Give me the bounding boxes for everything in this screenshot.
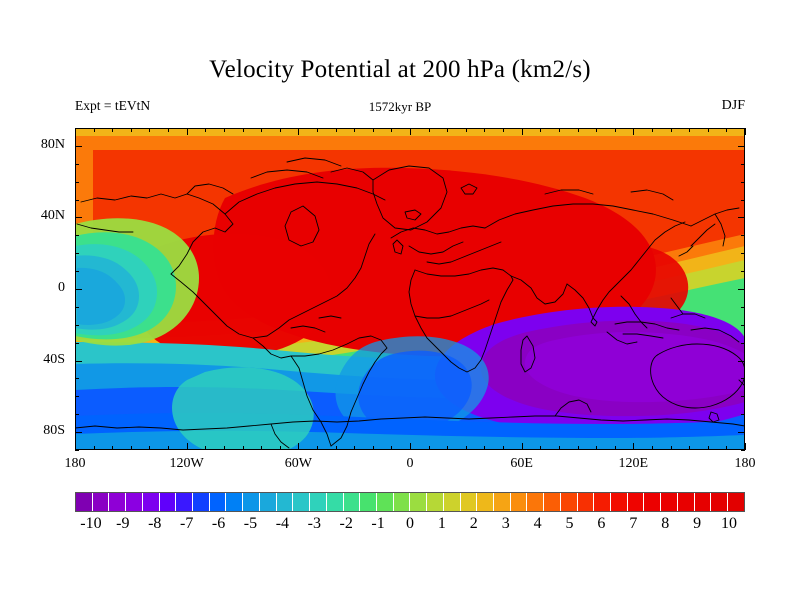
colorbar-cell[interactable] <box>260 493 277 511</box>
x-tick <box>671 446 672 450</box>
y-tick <box>75 450 79 451</box>
x-tick <box>726 446 727 450</box>
colorbar-cell[interactable] <box>277 493 294 511</box>
colorbar-tick-label: -5 <box>244 515 257 533</box>
page-title: Velocity Potential at 200 hPa (km2/s) <box>0 56 800 84</box>
x-tick-top <box>224 128 225 132</box>
y-tick <box>75 414 79 415</box>
y-tick <box>75 182 79 183</box>
colorbar-cell[interactable] <box>561 493 578 511</box>
y-tick-right <box>738 146 745 147</box>
colorbar-tick-label: 6 <box>597 515 605 533</box>
y-tick-right <box>741 450 745 451</box>
colorbar-cell[interactable] <box>511 493 528 511</box>
x-tick-top <box>94 128 95 132</box>
x-tick <box>633 443 634 450</box>
y-tick-right <box>741 307 745 308</box>
colorbar-cell[interactable] <box>160 493 177 511</box>
contour-map-svg <box>75 128 745 450</box>
y-tick-right <box>741 253 745 254</box>
colorbar-tick-label: -10 <box>80 515 101 533</box>
subtitle-time-label: 1572kyr BP <box>0 99 800 115</box>
y-tick-right <box>738 217 745 218</box>
colorbar-cell[interactable] <box>377 493 394 511</box>
x-tick-top <box>391 128 392 132</box>
x-tick-top <box>373 128 374 132</box>
x-tick <box>112 446 113 450</box>
y-tick <box>75 307 79 308</box>
colorbar[interactable] <box>75 492 745 512</box>
colorbar-cell[interactable] <box>695 493 712 511</box>
x-tick-top <box>298 128 299 135</box>
velocity-potential-figure: Velocity Potential at 200 hPa (km2/s) Ex… <box>0 0 800 600</box>
colorbar-tick-label: 8 <box>661 515 669 533</box>
colorbar-cell[interactable] <box>109 493 126 511</box>
x-tick <box>466 446 467 450</box>
y-tick-right <box>741 200 745 201</box>
y-axis-label: 80S <box>0 423 65 439</box>
x-tick-top <box>745 128 746 135</box>
x-tick <box>596 446 597 450</box>
x-tick-top <box>689 128 690 132</box>
x-tick <box>75 443 76 450</box>
colorbar-cell[interactable] <box>628 493 645 511</box>
x-axis-label: 120W <box>170 456 204 472</box>
colorbar-cell[interactable] <box>226 493 243 511</box>
x-tick <box>559 446 560 450</box>
x-tick <box>522 443 523 450</box>
x-tick <box>187 443 188 450</box>
y-tick <box>75 200 79 201</box>
colorbar-tick-label: 3 <box>502 515 510 533</box>
colorbar-cell[interactable] <box>176 493 193 511</box>
x-tick-top <box>708 128 709 132</box>
x-tick-top <box>261 128 262 132</box>
colorbar-tick-label: 10 <box>721 515 737 533</box>
y-tick-right <box>738 289 745 290</box>
colorbar-cell[interactable] <box>293 493 310 511</box>
y-tick-right <box>741 182 745 183</box>
colorbar-cell[interactable] <box>93 493 110 511</box>
x-tick-top <box>615 128 616 132</box>
colorbar-tick-label: -6 <box>212 515 225 533</box>
x-axis-label: 180 <box>65 456 86 472</box>
colorbar-cell[interactable] <box>427 493 444 511</box>
colorbar-cell[interactable] <box>594 493 611 511</box>
colorbar-cell[interactable] <box>578 493 595 511</box>
colorbar-cell[interactable] <box>494 493 511 511</box>
y-tick-right <box>741 128 745 129</box>
x-tick-top <box>522 128 523 135</box>
x-axis-label: 180 <box>735 456 756 472</box>
y-tick <box>75 361 82 362</box>
x-tick-top <box>187 128 188 135</box>
y-tick <box>75 396 79 397</box>
colorbar-tick-label: 5 <box>566 515 574 533</box>
x-tick <box>261 446 262 450</box>
colorbar-tick-label: 1 <box>438 515 446 533</box>
x-axis-label: 60W <box>285 456 312 472</box>
colorbar-cell[interactable] <box>711 493 728 511</box>
y-tick <box>75 128 79 129</box>
x-tick-top <box>149 128 150 132</box>
y-tick <box>75 164 79 165</box>
y-tick-right <box>741 414 745 415</box>
x-tick <box>540 446 541 450</box>
x-tick <box>243 446 244 450</box>
x-tick-top <box>559 128 560 132</box>
y-tick-right <box>738 432 745 433</box>
y-tick-right <box>741 378 745 379</box>
colorbar-cell[interactable] <box>143 493 160 511</box>
map-plot-area <box>75 128 745 450</box>
colorbar-tick-label: -9 <box>116 515 129 533</box>
x-tick-top <box>205 128 206 132</box>
colorbar-cell[interactable] <box>661 493 678 511</box>
colorbar-cell[interactable] <box>243 493 260 511</box>
x-tick-top <box>596 128 597 132</box>
x-tick-top <box>726 128 727 132</box>
y-axis-label: 40N <box>0 208 65 224</box>
colorbar-tick-label: -1 <box>371 515 384 533</box>
x-tick <box>615 446 616 450</box>
x-tick <box>745 443 746 450</box>
colorbar-tick-label: 9 <box>693 515 701 533</box>
y-tick-right <box>741 396 745 397</box>
x-tick-top <box>243 128 244 132</box>
colorbar-cell[interactable] <box>461 493 478 511</box>
colorbar-cell[interactable] <box>193 493 210 511</box>
x-tick-top <box>75 128 76 135</box>
x-tick <box>149 446 150 450</box>
y-tick <box>75 432 82 433</box>
x-tick-top <box>484 128 485 132</box>
x-tick <box>429 446 430 450</box>
x-tick-top <box>336 128 337 132</box>
y-axis-label: 40S <box>0 352 65 368</box>
y-tick <box>75 378 79 379</box>
colorbar-tick-label: -8 <box>148 515 161 533</box>
colorbar-cell[interactable] <box>394 493 411 511</box>
x-tick <box>447 446 448 450</box>
colorbar-cell[interactable] <box>544 493 561 511</box>
x-tick-top <box>671 128 672 132</box>
colorbar-cell[interactable] <box>310 493 327 511</box>
y-tick-right <box>741 164 745 165</box>
x-tick <box>484 446 485 450</box>
x-axis-label: 120E <box>619 456 649 472</box>
filled-contour-bands <box>75 128 745 450</box>
x-tick-top <box>410 128 411 135</box>
y-tick <box>75 146 82 147</box>
colorbar-cell[interactable] <box>644 493 661 511</box>
x-tick-top <box>354 128 355 132</box>
colorbar-tick-label: 4 <box>534 515 542 533</box>
colorbar-cell[interactable] <box>728 493 744 511</box>
x-tick <box>317 446 318 450</box>
colorbar-cell[interactable] <box>76 493 93 511</box>
y-tick-right <box>741 343 745 344</box>
x-tick <box>652 446 653 450</box>
x-tick <box>224 446 225 450</box>
colorbar-cell[interactable] <box>126 493 143 511</box>
x-axis-label: 60E <box>510 456 533 472</box>
colorbar-cell[interactable] <box>327 493 344 511</box>
y-tick-right <box>738 361 745 362</box>
x-tick-top <box>317 128 318 132</box>
colorbar-cell[interactable] <box>360 493 377 511</box>
x-tick <box>410 443 411 450</box>
colorbar-cell[interactable] <box>611 493 628 511</box>
colorbar-cell[interactable] <box>210 493 227 511</box>
colorbar-cell[interactable] <box>444 493 461 511</box>
x-tick <box>205 446 206 450</box>
x-tick-top <box>633 128 634 135</box>
y-tick <box>75 235 79 236</box>
x-axis-label: 0 <box>407 456 414 472</box>
colorbar-cell[interactable] <box>527 493 544 511</box>
y-tick-right <box>741 235 745 236</box>
x-tick <box>336 446 337 450</box>
colorbar-tick-label: -2 <box>340 515 353 533</box>
x-tick <box>503 446 504 450</box>
x-tick-top <box>280 128 281 132</box>
y-tick-right <box>741 325 745 326</box>
x-tick <box>373 446 374 450</box>
x-tick-top <box>503 128 504 132</box>
x-tick <box>354 446 355 450</box>
y-tick <box>75 253 79 254</box>
colorbar-tick-label: -7 <box>180 515 193 533</box>
x-tick <box>280 446 281 450</box>
colorbar-cell[interactable] <box>344 493 361 511</box>
x-tick-top <box>578 128 579 132</box>
x-tick-top <box>447 128 448 132</box>
y-axis-label: 0 <box>0 280 65 296</box>
colorbar-tick-label: 7 <box>629 515 637 533</box>
y-tick <box>75 343 79 344</box>
x-tick-top <box>168 128 169 132</box>
x-tick <box>168 446 169 450</box>
y-tick-right <box>741 271 745 272</box>
x-tick-top <box>540 128 541 132</box>
x-tick-top <box>112 128 113 132</box>
x-tick <box>689 446 690 450</box>
colorbar-tick-label: 2 <box>470 515 478 533</box>
colorbar-cell[interactable] <box>410 493 427 511</box>
x-tick-top <box>429 128 430 132</box>
x-tick-top <box>466 128 467 132</box>
colorbar-tick-label: 0 <box>406 515 414 533</box>
colorbar-tick-label: -3 <box>308 515 321 533</box>
y-tick <box>75 325 79 326</box>
y-tick <box>75 217 82 218</box>
x-tick <box>131 446 132 450</box>
x-tick <box>578 446 579 450</box>
x-tick <box>94 446 95 450</box>
colorbar-cell[interactable] <box>477 493 494 511</box>
y-tick <box>75 289 82 290</box>
colorbar-cell[interactable] <box>678 493 695 511</box>
x-tick <box>391 446 392 450</box>
y-tick <box>75 271 79 272</box>
y-axis-label: 80N <box>0 137 65 153</box>
x-tick <box>298 443 299 450</box>
x-tick-top <box>131 128 132 132</box>
x-tick-top <box>652 128 653 132</box>
x-tick <box>708 446 709 450</box>
colorbar-tick-label: -4 <box>276 515 289 533</box>
season-label: DJF <box>722 98 745 114</box>
